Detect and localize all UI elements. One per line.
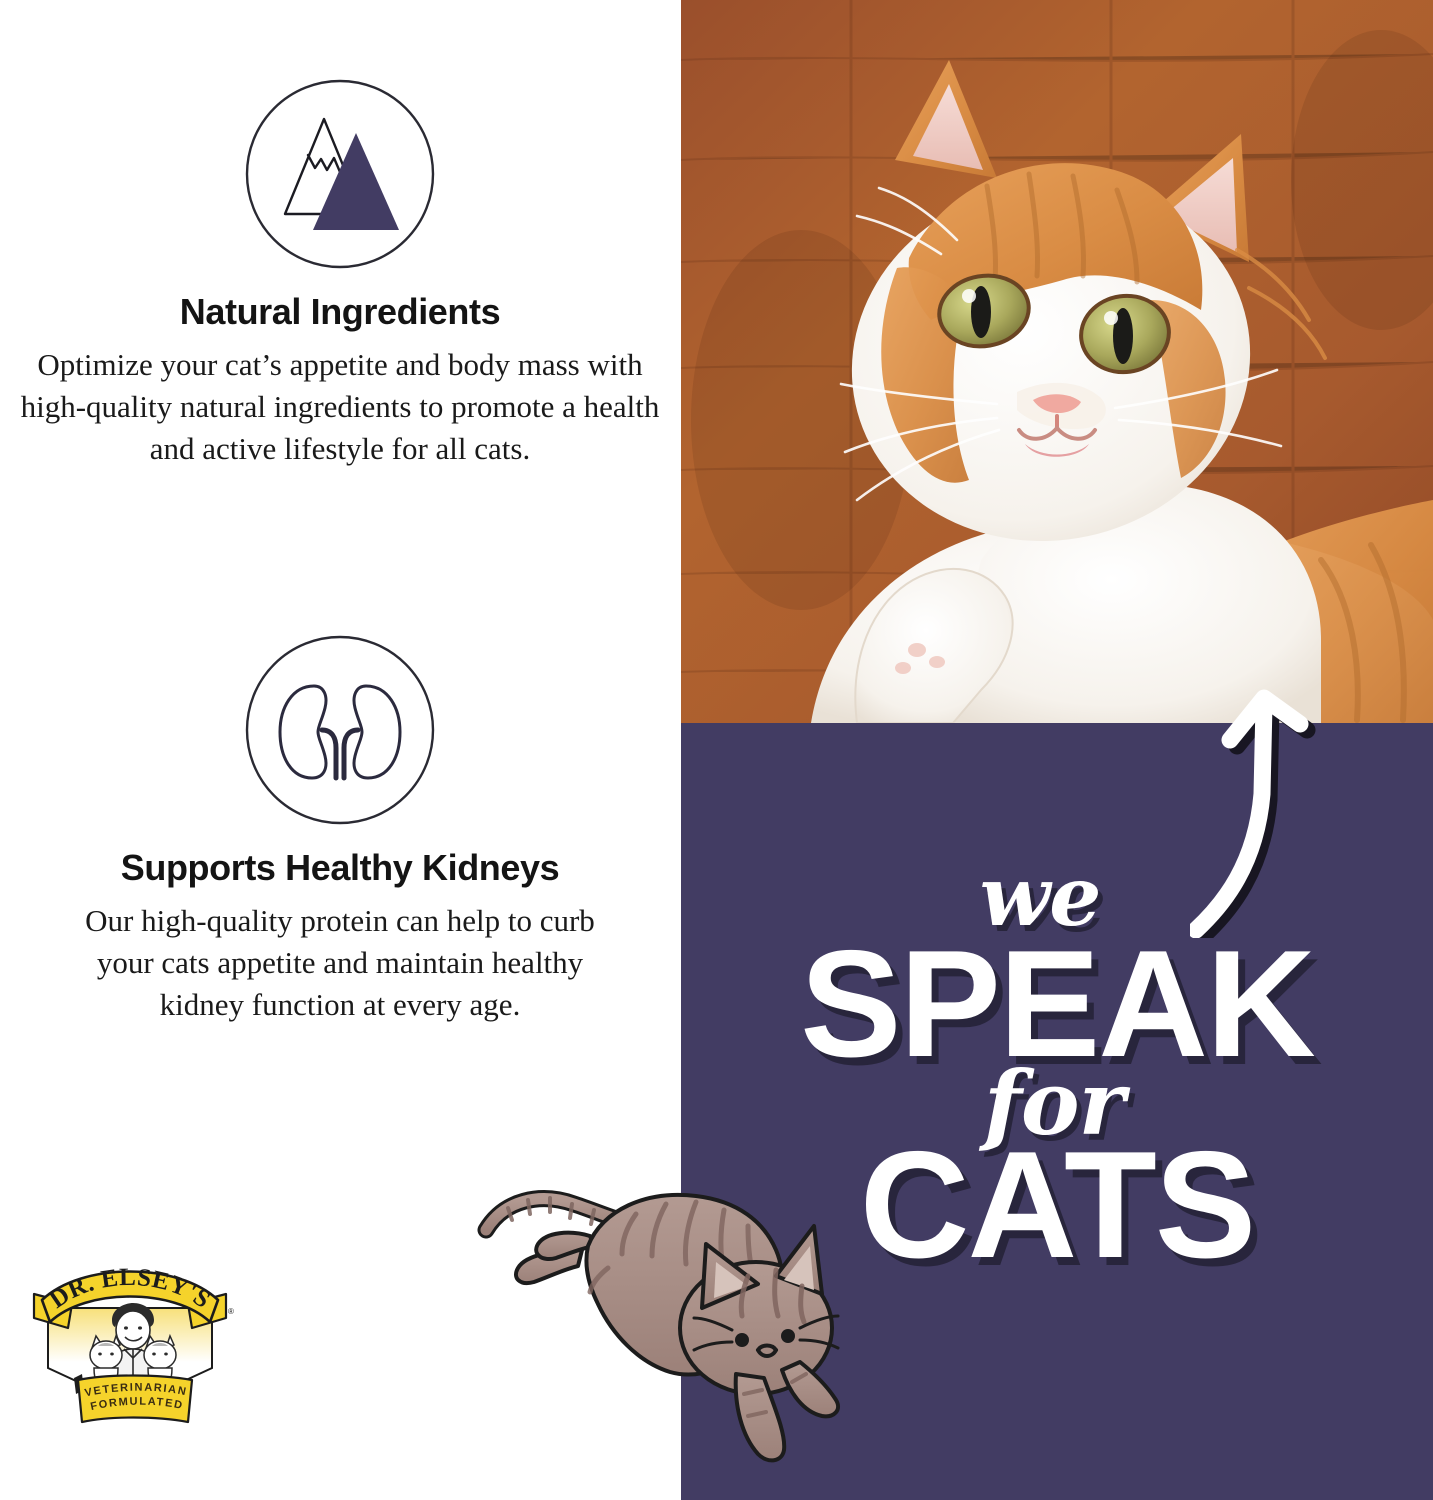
feature-description: Our high-quality protein can help to cur…: [60, 900, 620, 1026]
feature-title: Supports Healthy Kidneys: [0, 849, 680, 887]
registered-mark: ®: [228, 1307, 234, 1316]
jumping-tabby-cat-illustration: [470, 1158, 870, 1478]
slogan-line-speak: SPEAK: [681, 941, 1433, 1069]
feature-description: Optimize your cat’s appetite and body ma…: [20, 344, 660, 470]
orange-and-white-cat-photo: [681, 0, 1433, 723]
dr-elseys-logo: DR. ELSEY'S ®: [12, 1256, 248, 1446]
mountains-icon: [244, 78, 436, 270]
kidneys-icon: [244, 634, 436, 826]
feature-block-healthy-kidneys: Supports Healthy Kidneys Our high-qualit…: [0, 634, 680, 1026]
feature-title: Natural Ingredients: [0, 293, 680, 331]
feature-block-natural-ingredients: Natural Ingredients Optimize your cat’s …: [0, 78, 680, 470]
